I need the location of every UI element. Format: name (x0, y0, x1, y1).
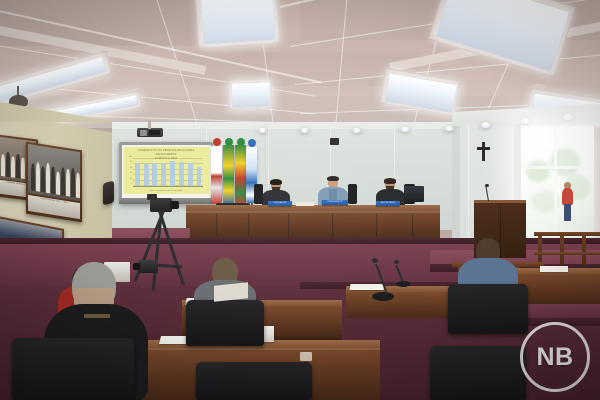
chart-x-axis (133, 186, 204, 187)
downlight (520, 118, 531, 124)
downlight (258, 128, 267, 133)
chart-y-tick: 40 (130, 172, 132, 174)
chart-bar (161, 163, 166, 186)
dais-panel-seam (376, 213, 377, 239)
flag-state-rs (235, 145, 246, 205)
projection-screen: COMPARATIVO DE RECEITAS REALIZADAS MENSA… (119, 142, 213, 204)
downlight (400, 127, 410, 132)
ceiling-light-fixture-3 (194, 0, 280, 49)
bar-chart-slide: COMPARATIVO DE RECEITAS REALIZADAS MENSA… (124, 147, 209, 194)
ceiling-dome-detector (532, 84, 546, 90)
dais-chair-left (254, 184, 263, 204)
chart-bar (170, 161, 175, 186)
desk-mic-head-right (394, 260, 399, 264)
chair-foreground-far-right (430, 346, 526, 400)
chair-right (448, 284, 528, 334)
ceiling-projector (137, 128, 163, 137)
downlight (300, 128, 309, 133)
desk-mic-base-front (372, 292, 394, 301)
chart-y-tick: 0 (131, 183, 132, 185)
flag-group (208, 138, 258, 214)
wall-back-cornice (112, 122, 464, 129)
nameplate-right: SECRETARIO (376, 201, 400, 206)
chair-center (186, 300, 264, 346)
dais-front-panel (186, 211, 440, 239)
nameplate-left: VEREADOR (268, 201, 292, 206)
nameplate-right-text: SECRETARIO (376, 201, 400, 204)
person-outside-window (560, 182, 574, 222)
podium-mic-head (485, 184, 489, 187)
chart-y-tick: 100 (129, 156, 132, 158)
downlight (352, 128, 361, 133)
ceiling-light-fixture-4 (227, 78, 272, 110)
flag-brazil (223, 145, 234, 205)
camera-lens (170, 201, 179, 209)
desk-paper-farright (540, 266, 568, 272)
chart-bar (135, 163, 140, 186)
chart-bar (179, 162, 184, 186)
chart-footer: Fonte: Departamento de Contabilidade (124, 190, 209, 192)
chart-gridline: 100 (133, 158, 204, 159)
tripod-leg (158, 211, 185, 286)
dais-panel-seam (332, 213, 333, 239)
chair-front-left (12, 338, 134, 400)
council-chamber-photo: COMPARATIVO DE RECEITAS REALIZADAS MENSA… (0, 0, 600, 400)
chart-bar (188, 163, 193, 186)
chart-y-tick: 80 (130, 161, 132, 163)
watermark-text: NB (536, 343, 573, 372)
dais-edge-highlight (186, 211, 440, 213)
chart-bar (152, 163, 157, 186)
flag-municipal (211, 146, 222, 204)
chart-plot-area: 02040608010012345678 (133, 159, 204, 186)
outlet-plate (300, 352, 312, 361)
camera-viewfinder (147, 194, 157, 200)
nameplate-center: PRESIDENTE (322, 200, 348, 205)
dais-chair-center (348, 184, 357, 204)
collar-tag (84, 314, 110, 318)
flag-institutional-finial (248, 139, 256, 147)
chart-y-tick: 60 (130, 167, 132, 169)
dais-panel-seam (216, 213, 217, 237)
chart-y-tick: 20 (130, 178, 132, 180)
desk-mic-head-front (372, 258, 378, 263)
watermark-logo: NB (520, 322, 590, 392)
crucifix-icon (476, 142, 490, 161)
projector-mount (148, 120, 151, 129)
chart-bar (197, 167, 202, 186)
wall-speaker-left (103, 181, 114, 206)
chart-bar (144, 164, 149, 186)
downlight (444, 126, 454, 131)
dais-panel-seam (412, 213, 413, 238)
dais-panel-seam (288, 213, 289, 238)
photo-frame-historic-right: LEGISLATURA 1965 - 1968 (26, 142, 82, 223)
downlight (562, 114, 574, 120)
dais-monitor (404, 186, 424, 202)
nameplate-left-text: VEREADOR (268, 201, 292, 204)
chart-title-line1: COMPARATIVO DE RECEITAS REALIZADAS MENSA… (138, 149, 195, 156)
dais-panel-seam (248, 213, 249, 238)
dais-papers (296, 202, 314, 206)
security-camera (330, 138, 339, 145)
downlight (480, 122, 491, 128)
flag-municipal-finial (213, 138, 221, 146)
nameplate-center-text: PRESIDENTE (322, 200, 348, 203)
chair-foreground-right (196, 362, 312, 400)
desk-front-highlight (126, 348, 380, 350)
desk-paper-right (349, 284, 384, 290)
